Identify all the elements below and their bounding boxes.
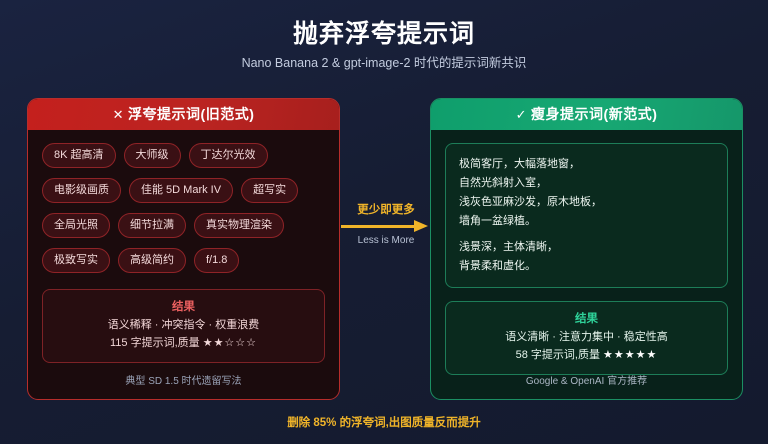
- infographic-canvas: 抛弃浮夸提示词 Nano Banana 2 & gpt-image-2 时代的提…: [0, 0, 768, 444]
- pill-item[interactable]: 全局光照: [42, 213, 110, 238]
- bad-card-body: 8K 超高清 大师级 丁达尔光效 电影级画质 佳能 5D Mark IV 超写实…: [28, 130, 339, 363]
- pill-item[interactable]: 超写实: [241, 178, 298, 203]
- bad-result-box: 结果 语义稀释 · 冲突指令 · 权重浪费 115 字提示词,质量 ★★☆☆☆: [42, 289, 325, 362]
- arrow-right-icon: [340, 221, 432, 232]
- pill-item[interactable]: 高级简约: [118, 248, 186, 273]
- bad-result-line-2: 115 字提示词,质量 ★★☆☆☆: [53, 335, 314, 353]
- good-result-line-2: 58 字提示词,质量 ★★★★★: [456, 347, 717, 365]
- pill-item[interactable]: 大师级: [124, 143, 181, 168]
- good-card-header: ✓瘦身提示词(新范式): [431, 99, 742, 130]
- pill-item[interactable]: 极致写实: [42, 248, 110, 273]
- bad-result-line-1: 语义稀释 · 冲突指令 · 权重浪费: [53, 317, 314, 335]
- good-prompt-box[interactable]: 极简客厅，大幅落地窗，自然光斜射入室，浅灰色亚麻沙发，原木地板，墙角一盆绿植。 …: [445, 143, 728, 288]
- arrow-shaft: [341, 225, 417, 228]
- pill-item[interactable]: 佳能 5D Mark IV: [129, 178, 233, 203]
- bad-star-rating: ★★☆☆☆: [203, 337, 257, 349]
- good-result-count: 58 字提示词,质量: [516, 349, 600, 361]
- prompt-paragraph: 浅景深，主体清晰，背景柔和虚化。: [459, 238, 714, 276]
- bad-card-title: 浮夸提示词(旧范式): [128, 106, 254, 122]
- bad-result-label: 结果: [53, 298, 314, 314]
- good-prompt-card: ✓瘦身提示词(新范式) 极简客厅，大幅落地窗，自然光斜射入室，浅灰色亚麻沙发，原…: [430, 98, 743, 400]
- arrow-top-label: 更少即更多: [340, 205, 432, 217]
- check-icon: ✓: [516, 99, 527, 130]
- good-result-box: 结果 语义清晰 · 注意力集中 · 稳定性高 58 字提示词,质量 ★★★★★: [445, 301, 728, 374]
- cross-icon: ✕: [113, 99, 124, 130]
- bottom-note: 删除 85% 的浮夸词,出图质量反而提升: [0, 414, 768, 430]
- pill-item[interactable]: 电影级画质: [42, 178, 121, 203]
- pill-item[interactable]: 丁达尔光效: [189, 143, 268, 168]
- good-star-rating: ★★★★★: [603, 349, 657, 361]
- arrow-bottom-label: Less is More: [340, 236, 432, 246]
- good-card-body: 极简客厅，大幅落地窗，自然光斜射入室，浅灰色亚麻沙发，原木地板，墙角一盆绿植。 …: [431, 130, 742, 375]
- good-result-label: 结果: [456, 310, 717, 326]
- page-subtitle: Nano Banana 2 & gpt-image-2 时代的提示词新共识: [0, 52, 768, 71]
- good-result-line-1: 语义清晰 · 注意力集中 · 稳定性高: [456, 329, 717, 347]
- bad-pill-list: 8K 超高清 大师级 丁达尔光效 电影级画质 佳能 5D Mark IV 超写实…: [42, 143, 325, 273]
- prompt-paragraph: 极简客厅，大幅落地窗，自然光斜射入室，浅灰色亚麻沙发，原木地板，墙角一盆绿植。: [459, 155, 714, 231]
- page-title: 抛弃浮夸提示词: [0, 14, 768, 50]
- pill-item[interactable]: 真实物理渲染: [194, 213, 284, 238]
- bad-prompt-card: ✕浮夸提示词(旧范式) 8K 超高清 大师级 丁达尔光效 电影级画质 佳能 5D…: [27, 98, 340, 400]
- bad-result-count: 115 字提示词,质量: [110, 337, 200, 349]
- transition-arrow: 更少即更多 Less is More: [340, 205, 432, 267]
- arrow-head: [414, 220, 428, 232]
- good-card-footer: Google & OpenAI 官方推荐: [431, 372, 742, 387]
- pill-item[interactable]: f/1.8: [194, 248, 239, 273]
- pill-item[interactable]: 细节拉满: [118, 213, 186, 238]
- good-card-title: 瘦身提示词(新范式): [531, 106, 657, 122]
- bad-card-footer: 典型 SD 1.5 时代遗留写法: [28, 372, 339, 387]
- bad-card-header: ✕浮夸提示词(旧范式): [28, 99, 339, 130]
- pill-item[interactable]: 8K 超高清: [42, 143, 116, 168]
